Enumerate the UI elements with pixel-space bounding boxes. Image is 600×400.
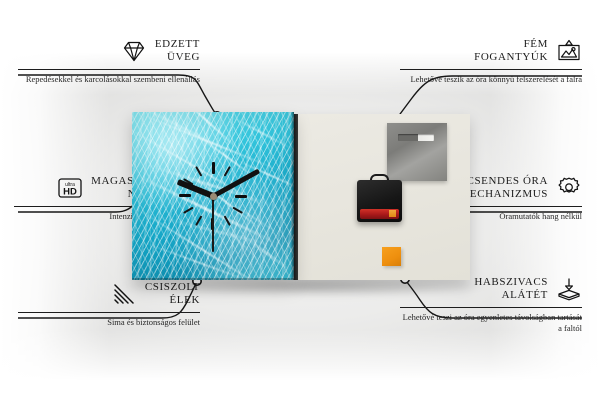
feature-title: CSENDES ÓRAMECHANIZMUS — [460, 175, 549, 201]
diamond-icon — [121, 39, 147, 63]
hand-center-cap — [210, 193, 217, 200]
clock-back-panel — [294, 114, 470, 280]
quartz-clock-mechanism — [357, 174, 402, 222]
feature-csiszolt-elek[interactable]: CSISZOLTÉLEK Sima és biztonságos felület — [18, 281, 200, 328]
feature-title: EDZETTÜVEG — [155, 38, 200, 64]
battery — [360, 209, 399, 219]
svg-text:HD: HD — [63, 186, 77, 197]
feature-fem-fogantyuk[interactable]: FÉMFOGANTYÚK Lehetővé teszik az óra könn… — [400, 38, 582, 85]
feature-header: CSISZOLTÉLEK — [18, 281, 200, 307]
second-hand — [212, 196, 214, 252]
feature-habszivacs-alatet[interactable]: HABSZIVACSALÁTÉT Lehetővé teszi az óra e… — [400, 276, 582, 333]
feature-rule — [400, 69, 582, 70]
feature-rule — [18, 312, 200, 313]
feature-desc: Lehetővé teszi az óra egyenletes távolsá… — [400, 312, 582, 333]
feature-header: FÉMFOGANTYÚK — [400, 38, 582, 64]
glass-bottom-edge — [132, 278, 294, 280]
feature-header: EDZETTÜVEG — [18, 38, 200, 64]
feature-desc: Lehetővé teszik az óra könnyű felszerelé… — [400, 74, 582, 85]
ultra-hd-icon: ultra HD — [57, 176, 83, 200]
feature-title: HABSZIVACSALÁTÉT — [474, 276, 548, 302]
glass-right-edge — [291, 112, 294, 280]
feature-title: CSISZOLTÉLEK — [145, 281, 200, 307]
gear-icon — [556, 176, 582, 200]
back-panel-edge — [294, 114, 298, 280]
feature-desc: Repedésekkel és karcolásokkal szembeni e… — [18, 74, 200, 85]
polished-edges-icon — [111, 282, 137, 306]
clock-front-glass — [132, 112, 294, 280]
picture-hanger-icon — [556, 39, 582, 63]
product-group — [132, 112, 470, 284]
foam-spacer-pad — [382, 247, 401, 266]
feature-title: FÉMFOGANTYÚK — [474, 38, 548, 64]
feature-rule — [18, 69, 200, 70]
foam-pad-arrow-icon — [556, 277, 582, 301]
feature-rule — [400, 307, 582, 308]
feature-desc: Sima és biztonságos felület — [18, 317, 200, 328]
hanger-slot — [398, 134, 434, 141]
feature-edzett-uveg[interactable]: EDZETTÜVEG Repedésekkel és karcolásokkal… — [18, 38, 200, 85]
metal-hanger — [387, 123, 447, 181]
